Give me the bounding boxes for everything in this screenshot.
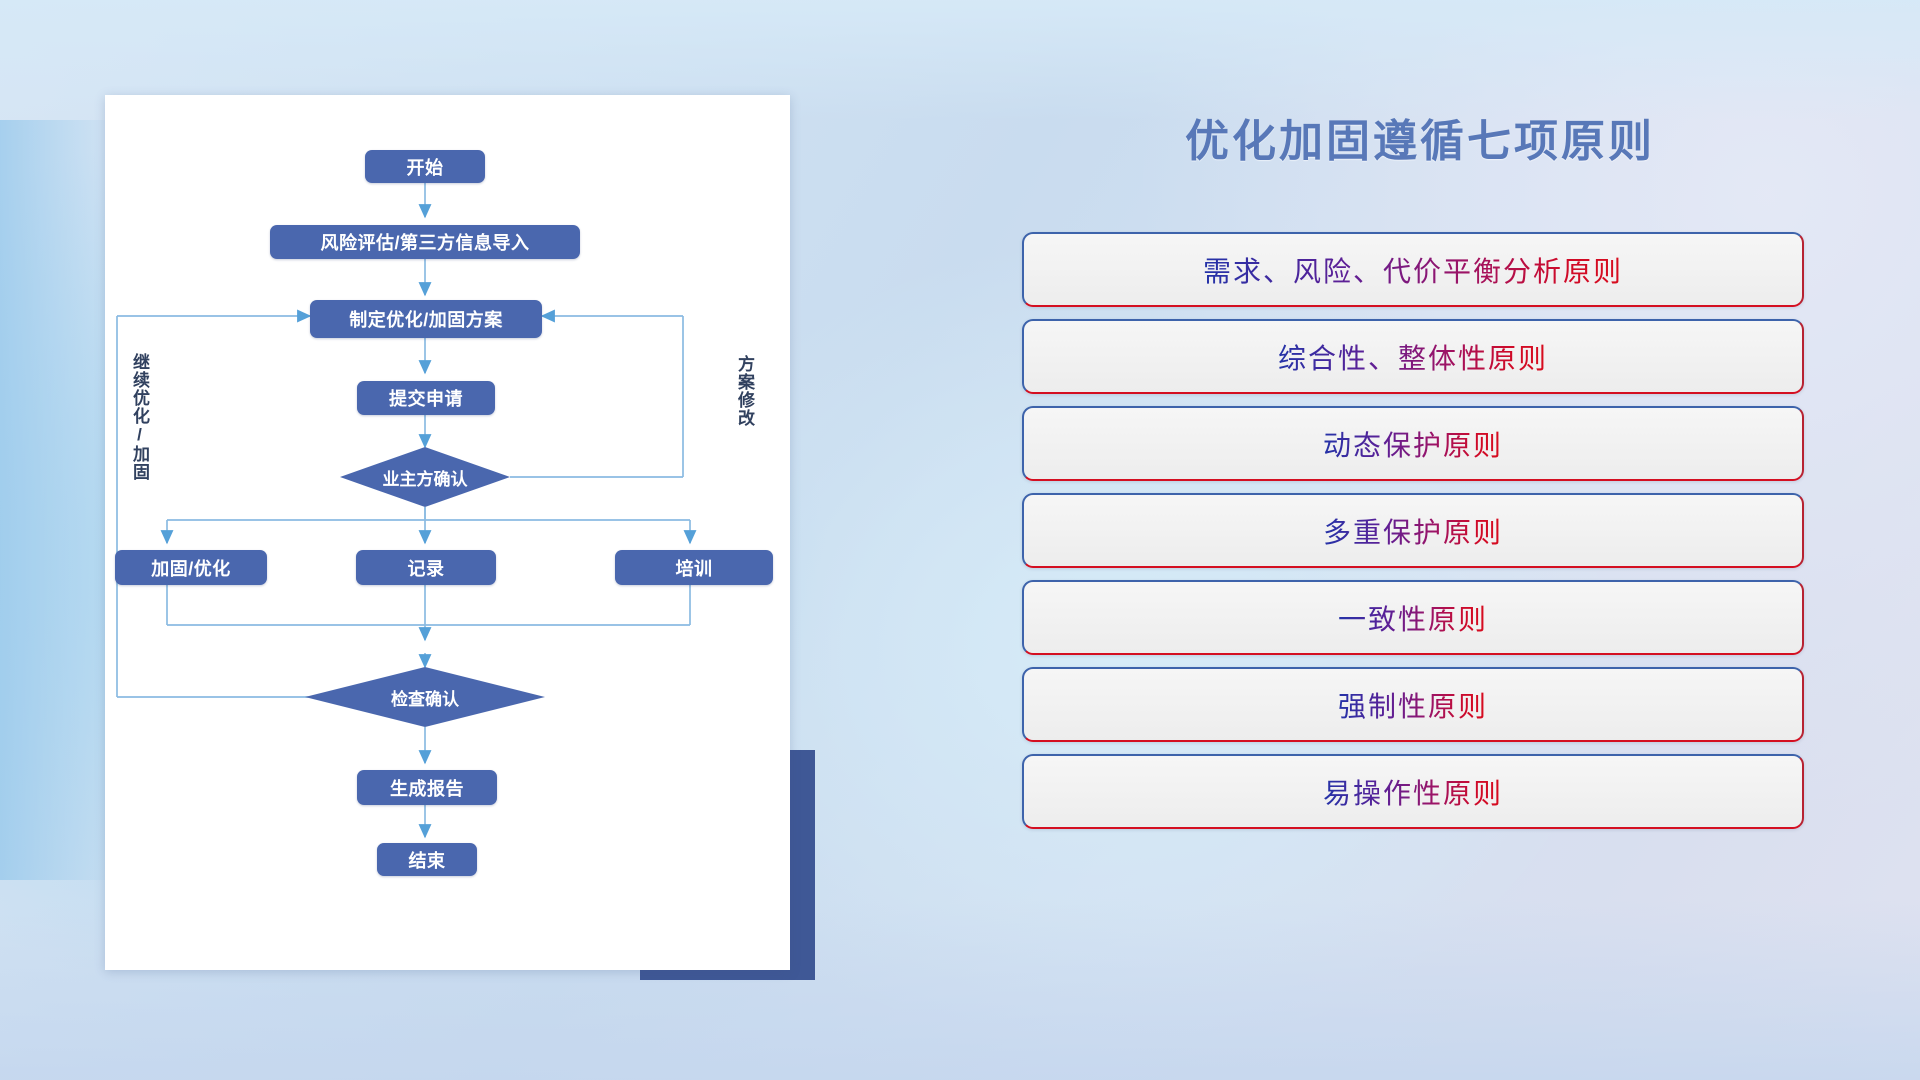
principle-item-2[interactable]: 综合性、整体性原则 xyxy=(1022,319,1804,394)
flow-edge-label-right-loop: 方案修改 xyxy=(735,355,753,427)
principle-item-7[interactable]: 易操作性原则 xyxy=(1022,754,1804,829)
flow-node-record-label: 记录 xyxy=(408,555,445,581)
flow-edge-label-left-loop: 继续优化/加固 xyxy=(130,353,148,481)
flow-node-end-label: 结束 xyxy=(409,847,446,873)
flow-node-start-label: 开始 xyxy=(407,154,444,180)
principle-item-5-label: 一致性原则 xyxy=(1338,598,1488,638)
flow-node-generate-report[interactable]: 生成报告 xyxy=(357,770,497,805)
flow-node-reinforce-label: 加固/优化 xyxy=(151,555,231,581)
principle-item-7-label: 易操作性原则 xyxy=(1323,772,1503,812)
principle-item-4[interactable]: 多重保护原则 xyxy=(1022,493,1804,568)
flow-node-generate-report-label: 生成报告 xyxy=(390,775,464,801)
flow-node-submit-application-label: 提交申请 xyxy=(389,385,463,411)
flow-node-risk-assessment[interactable]: 风险评估/第三方信息导入 xyxy=(270,225,580,259)
principle-item-6[interactable]: 强制性原则 xyxy=(1022,667,1804,742)
principle-item-1[interactable]: 需求、风险、代价平衡分析原则 xyxy=(1022,232,1804,307)
principles-list: 需求、风险、代价平衡分析原则 综合性、整体性原则 动态保护原则 多重保护原则 一… xyxy=(1022,232,1804,841)
flow-node-training-label: 培训 xyxy=(676,555,713,581)
flow-node-plan[interactable]: 制定优化/加固方案 xyxy=(310,300,542,338)
principle-item-3[interactable]: 动态保护原则 xyxy=(1022,406,1804,481)
flow-node-plan-label: 制定优化/加固方案 xyxy=(349,306,503,332)
principles-title: 优化加固遵循七项原则 xyxy=(1020,105,1820,169)
flowchart-card: 开始 风险评估/第三方信息导入 制定优化/加固方案 提交申请 业主方确认 加固/… xyxy=(105,95,790,970)
flow-node-start[interactable]: 开始 xyxy=(365,150,485,183)
flow-node-risk-assessment-label: 风险评估/第三方信息导入 xyxy=(321,229,530,255)
principle-item-5[interactable]: 一致性原则 xyxy=(1022,580,1804,655)
principle-item-3-label: 动态保护原则 xyxy=(1323,424,1503,464)
flow-node-owner-confirm-shape xyxy=(340,447,510,507)
flow-node-check-confirm-shape xyxy=(305,667,545,727)
principle-item-4-label: 多重保护原则 xyxy=(1323,511,1503,551)
flow-node-end[interactable]: 结束 xyxy=(377,843,477,876)
principle-item-1-label: 需求、风险、代价平衡分析原则 xyxy=(1203,250,1623,290)
principle-item-2-label: 综合性、整体性原则 xyxy=(1278,337,1548,377)
flow-node-reinforce[interactable]: 加固/优化 xyxy=(115,550,267,585)
background-left-glow xyxy=(0,120,120,880)
flow-node-submit-application[interactable]: 提交申请 xyxy=(357,381,495,415)
flow-node-training[interactable]: 培训 xyxy=(615,550,773,585)
principle-item-6-label: 强制性原则 xyxy=(1338,685,1488,725)
flow-node-record[interactable]: 记录 xyxy=(356,550,496,585)
